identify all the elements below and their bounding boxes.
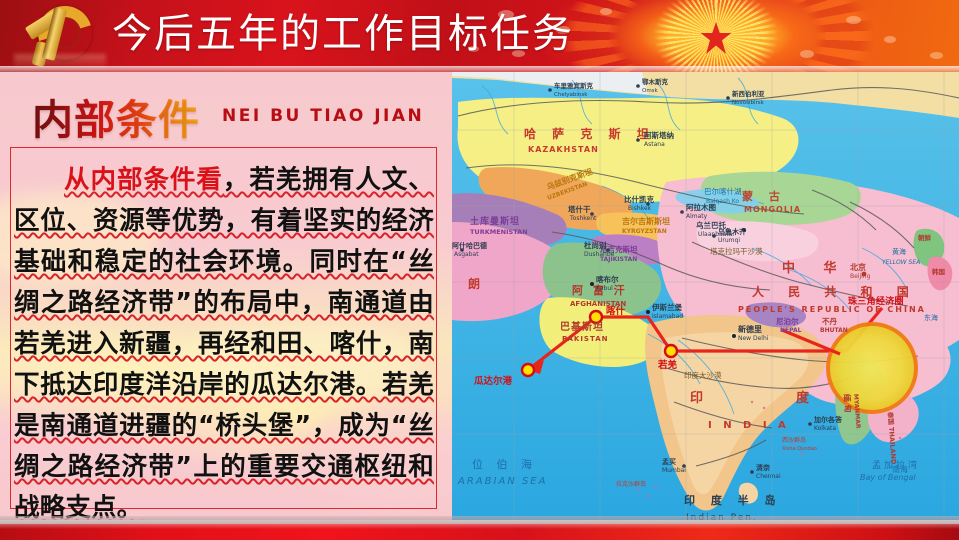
pearl-river-delta-label: 珠三角经济圈 — [848, 294, 904, 307]
svg-text:黄海: 黄海 — [892, 247, 906, 256]
svg-text:AFGHANISTAN: AFGHANISTAN — [570, 300, 626, 308]
section-title-pinyin: NEI BU TIAO JIAN — [222, 106, 424, 126]
svg-text:NEPAL: NEPAL — [780, 327, 802, 334]
page-title: 今后五年的工作目标任务 — [112, 3, 574, 65]
svg-text:塔什干: 塔什干 — [568, 204, 591, 214]
svg-text:Dushanbe: Dushanbe — [584, 251, 615, 258]
svg-text:东海: 东海 — [924, 313, 938, 322]
svg-text:Asgabat: Asgabat — [454, 251, 479, 258]
svg-text:车里雅宾斯克: 车里雅宾斯克 — [554, 81, 594, 90]
svg-text:Kolkata: Kolkata — [814, 425, 836, 432]
svg-text:Chelyabinsk: Chelyabinsk — [554, 92, 588, 98]
svg-text:不丹: 不丹 — [822, 317, 837, 326]
svg-text:位 伯 海: 位 伯 海 — [472, 457, 537, 471]
svg-text:吉尔吉斯斯坦: 吉尔吉斯斯坦 — [622, 216, 670, 226]
bokeh-dot — [884, 36, 896, 43]
svg-text:拉克沙群岛: 拉克沙群岛 — [616, 480, 646, 488]
svg-text:PAKISTAN: PAKISTAN — [562, 335, 608, 343]
svg-text:乌鲁木齐: 乌鲁木齐 — [718, 227, 747, 236]
svg-text:YELLOW SEA: YELLOW SEA — [882, 259, 920, 266]
svg-text:比什凯克: 比什凯克 — [624, 194, 654, 204]
svg-text:MONGOLIA: MONGOLIA — [744, 205, 801, 214]
svg-text:Omsk: Omsk — [642, 88, 659, 94]
svg-text:巴尔喀什湖: 巴尔喀什湖 — [704, 186, 742, 196]
svg-text:土库曼斯坦: 土库曼斯坦 — [470, 215, 520, 227]
svg-text:Beijing: Beijing — [850, 273, 871, 280]
svg-text:尼泊尔: 尼泊尔 — [776, 316, 799, 326]
bokeh-dot — [930, 52, 943, 59]
svg-text:阿斯塔纳: 阿斯塔纳 — [644, 130, 674, 140]
svg-text:Kabul: Kabul — [596, 285, 613, 292]
svg-text:Chennai: Chennai — [756, 473, 781, 480]
svg-text:新德里: 新德里 — [738, 324, 762, 334]
svg-text:巴基斯坦: 巴基斯坦 — [560, 320, 604, 333]
svg-text:印度大沙漠: 印度大沙漠 — [684, 370, 722, 380]
svg-text:BHUTAN: BHUTAN — [820, 327, 848, 334]
asia-political-map: 喀什 若羌 瓜达尔港 哈 萨 克 斯 坦 KAZAKHSTAN 蒙 古 MONG… — [452, 72, 959, 520]
pearl-river-delta-highlight — [828, 324, 916, 412]
bokeh-dot — [800, 50, 814, 58]
body-rest-text: ，若羌拥有人文、区位、资源等优势，有着坚实的经济基础和稳定的社会环境。同时在“丝… — [14, 165, 434, 520]
svg-text:Toshkent: Toshkent — [569, 215, 597, 222]
svg-text:KYRGYZSTAN: KYRGYZSTAN — [622, 228, 667, 235]
svg-text:阿什哈巴德: 阿什哈巴德 — [452, 241, 487, 250]
svg-text:缅 甸: 缅 甸 — [842, 393, 853, 412]
svg-text:Urumqi: Urumqi — [718, 237, 740, 244]
svg-text:Almaty: Almaty — [686, 213, 708, 220]
svg-text:哈 萨 克 斯 坦: 哈 萨 克 斯 坦 — [524, 126, 655, 141]
svg-text:新西伯利亚: 新西伯利亚 — [732, 89, 765, 98]
hammer-and-sickle-emblem — [14, 2, 106, 70]
svg-text:Bishkek: Bishkek — [628, 205, 652, 212]
left-content-panel: 内部条件 NEI BU TIAO JIAN 从内部条件看，若羌拥有人文、区位、资… — [0, 72, 452, 520]
svg-text:印: 印 — [690, 391, 706, 406]
svg-text:I N D I A: I N D I A — [708, 420, 790, 431]
ruoqiang-marker-label: 若羌 — [657, 359, 678, 371]
svg-text:度: 度 — [796, 390, 812, 406]
body-lead-phrase: 从内部条件看 — [64, 165, 223, 195]
bokeh-dot — [600, 8, 612, 15]
body-paragraph: 从内部条件看，若羌拥有人文、区位、资源等优势，有着坚实的经济基础和稳定的社会环境… — [14, 160, 434, 520]
svg-text:Bay of Bengal: Bay of Bengal — [860, 473, 916, 482]
svg-text:Mumbai: Mumbai — [662, 467, 686, 474]
svg-text:蒙 古: 蒙 古 — [742, 189, 786, 203]
svg-text:西沙群岛: 西沙群岛 — [782, 436, 806, 444]
svg-text:南海: 南海 — [892, 464, 908, 474]
svg-text:孟买: 孟买 — [662, 457, 676, 466]
svg-text:伊斯兰堡: 伊斯兰堡 — [651, 302, 682, 312]
section-title: 内部条件 — [32, 86, 200, 146]
svg-text:清奈: 清奈 — [756, 463, 771, 472]
svg-text:Astana: Astana — [644, 141, 665, 148]
svg-text:朝鲜: 朝鲜 — [918, 233, 932, 242]
ruoqiang-marker — [665, 345, 677, 357]
svg-text:KAZAKHSTAN: KAZAKHSTAN — [528, 145, 599, 154]
gwadar-marker — [522, 364, 534, 376]
svg-text:Xisha Qundao: Xisha Qundao — [782, 446, 817, 452]
svg-text:韩国: 韩国 — [932, 267, 946, 276]
svg-text:ARABIAN SEA: ARABIAN SEA — [457, 476, 547, 487]
svg-text:朗: 朗 — [468, 276, 480, 291]
svg-text:New Delhi: New Delhi — [738, 335, 769, 342]
svg-text:加尔各答: 加尔各答 — [813, 415, 843, 424]
svg-text:杜尚别: 杜尚别 — [584, 240, 607, 250]
svg-text:中 华: 中 华 — [782, 260, 849, 276]
svg-text:北京: 北京 — [850, 262, 866, 272]
bokeh-dot — [846, 16, 861, 24]
svg-text:Islamabad: Islamabad — [652, 313, 683, 320]
svg-text:Novosibirsk: Novosibirsk — [732, 100, 765, 106]
svg-text:Balqash Ko: Balqash Ko — [706, 198, 739, 205]
svg-text:印 度 半 岛: 印 度 半 岛 — [684, 493, 782, 507]
slide-header-banner: 今后五年的工作目标任务 — [0, 0, 959, 72]
svg-text:TURKMENISTAN: TURKMENISTAN — [470, 228, 528, 236]
svg-text:鄂木斯克: 鄂木斯克 — [642, 77, 669, 86]
svg-text:喀布尔: 喀布尔 — [596, 274, 619, 284]
svg-text:塔克拉玛干沙漠: 塔克拉玛干沙漠 — [710, 246, 763, 256]
footer-gloss — [0, 524, 959, 529]
gwadar-marker-label: 瓜达尔港 — [474, 375, 513, 387]
slide-root: 今后五年的工作目标任务 内部条件 NEI BU TIAO JIAN 从内部条件看… — [0, 0, 959, 540]
